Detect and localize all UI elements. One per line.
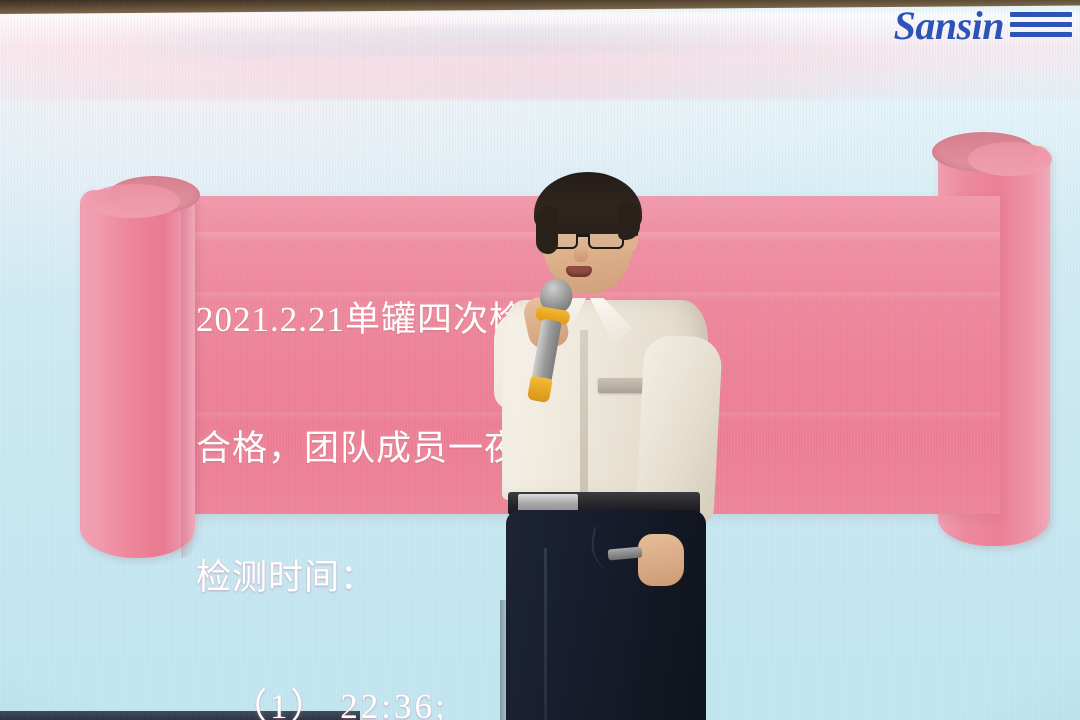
scroll-roll-left-inner <box>88 184 180 218</box>
presenter-mouth <box>566 266 592 277</box>
presentation-photo: Sansin 2021.2.21单罐四次检测不 合格，团队成员一夜未眠； 检测时… <box>0 0 1080 720</box>
scroll-roll-left-shade <box>181 190 195 558</box>
presenter-hand-right <box>638 534 684 586</box>
presenter-trouser-crease <box>544 548 547 720</box>
presenter-side-shadow <box>500 600 512 720</box>
scroll-roll-left <box>80 190 195 558</box>
presenter-shirt-placket <box>580 330 588 498</box>
scroll-roll-right-inner <box>968 142 1052 176</box>
presenter-hair-side <box>618 202 640 240</box>
presenter <box>470 160 770 720</box>
presenter-name-badge <box>598 378 644 393</box>
